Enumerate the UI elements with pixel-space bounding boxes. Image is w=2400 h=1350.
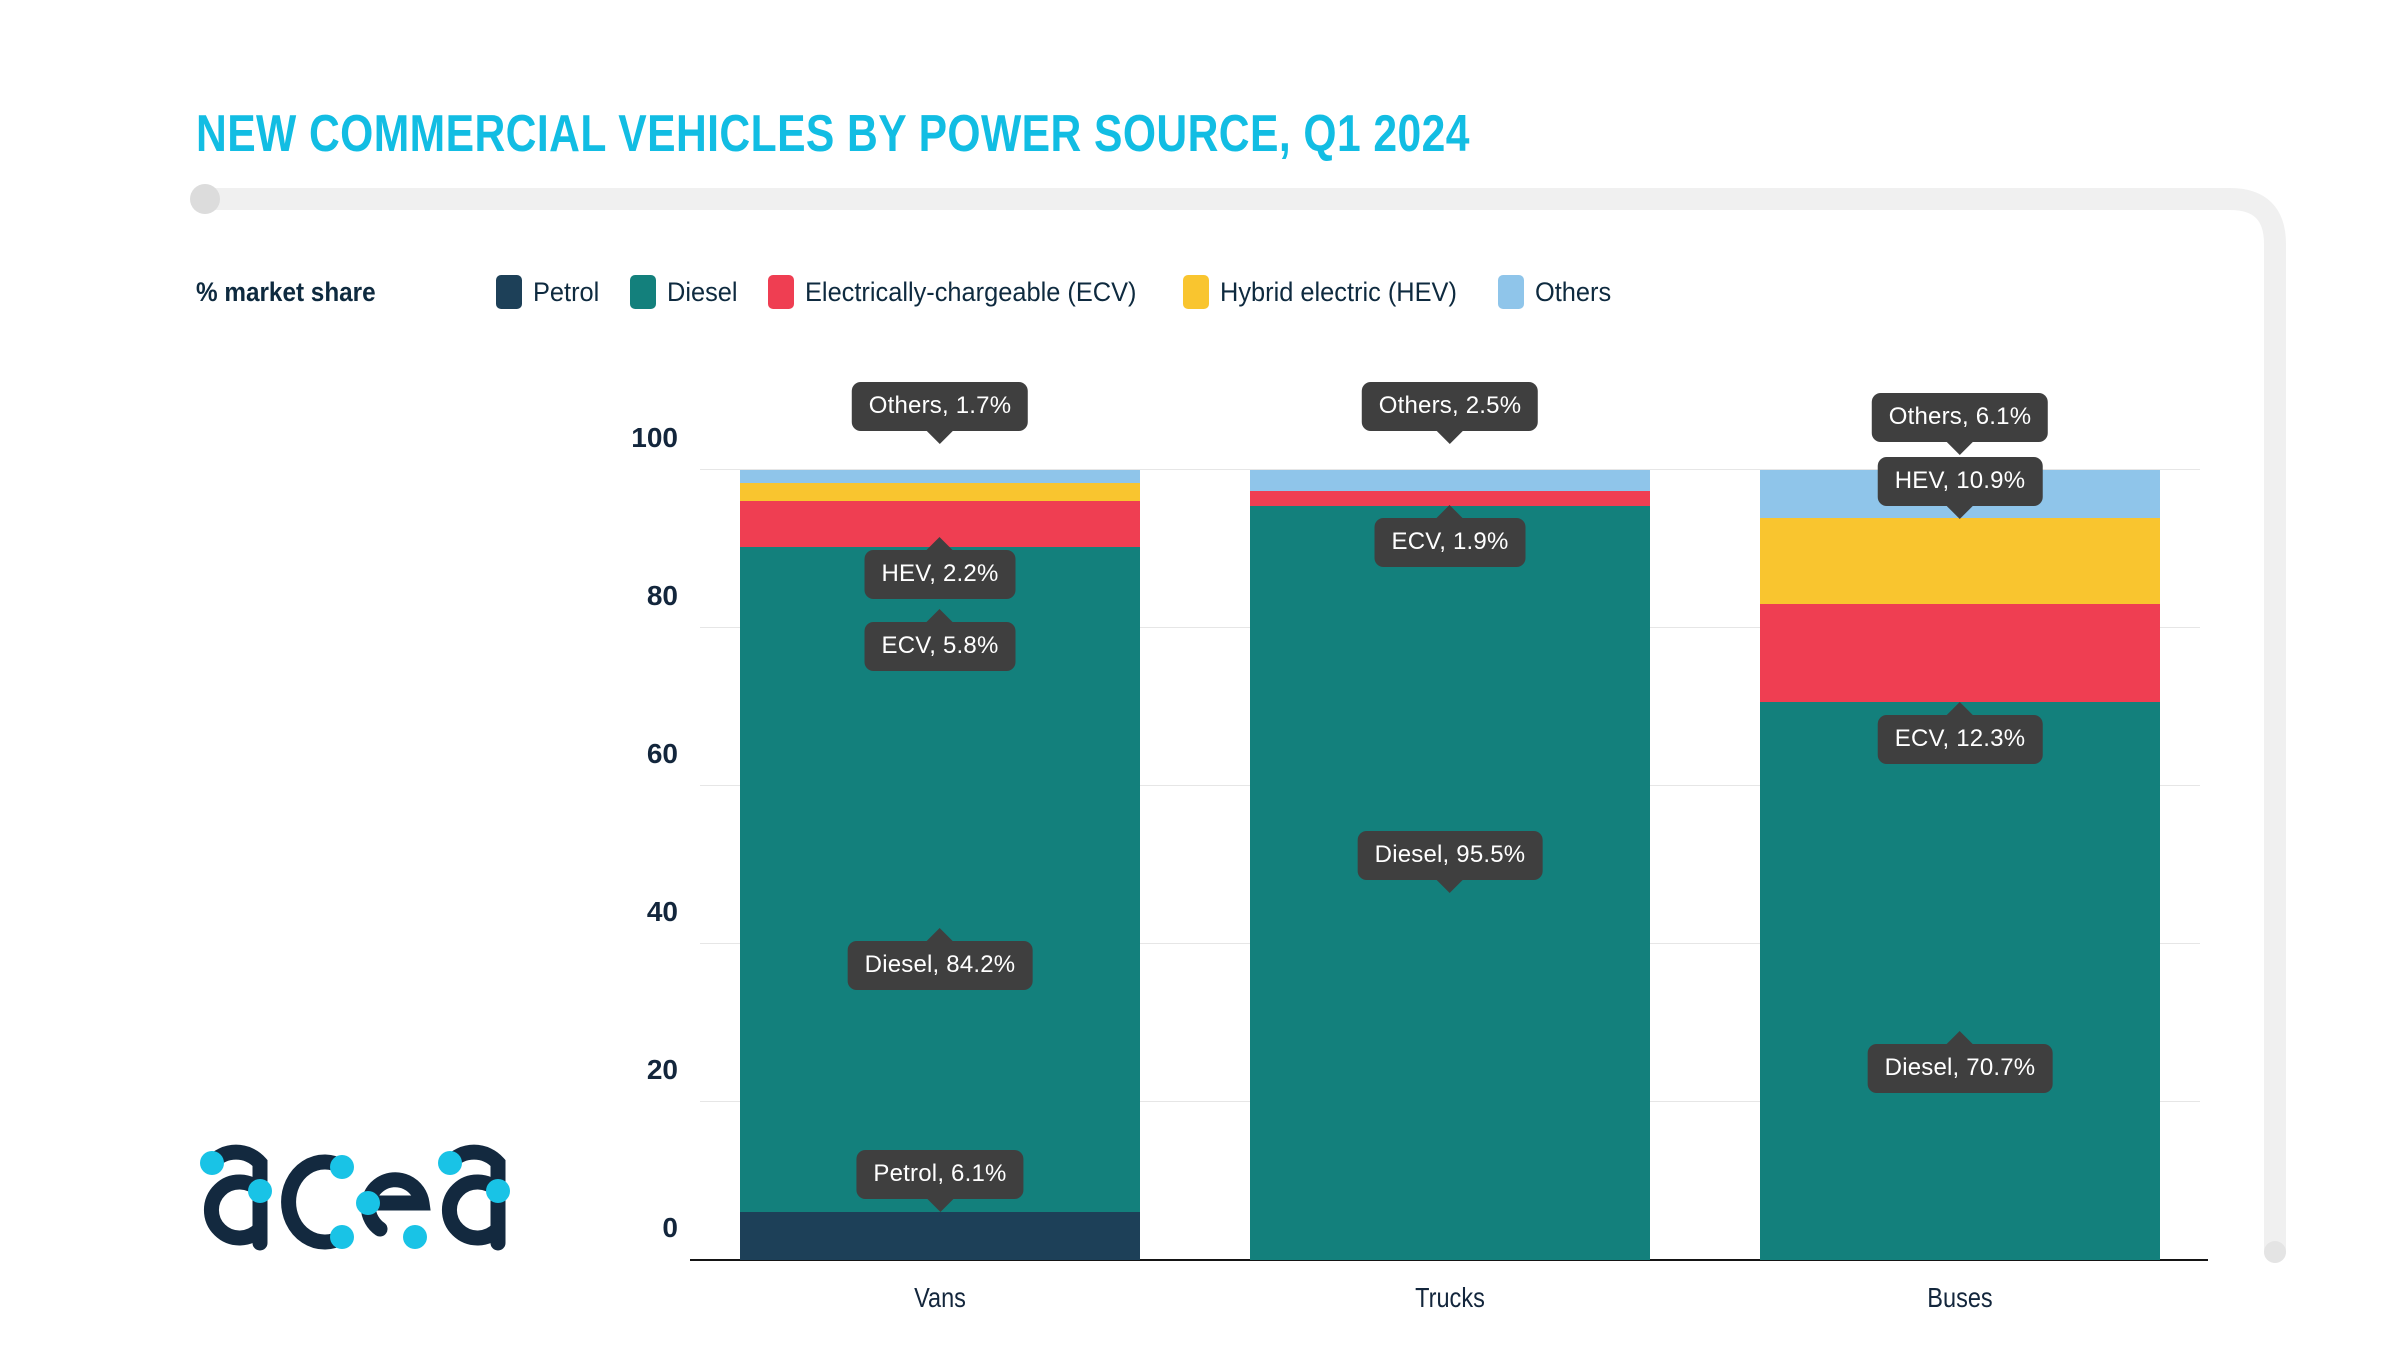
data-label-vans-others: Others, 1.7% (852, 382, 1028, 431)
legend-swatch-diesel (630, 275, 656, 309)
legend-swatch-others (1498, 275, 1524, 309)
logo-dot-5 (356, 1191, 380, 1215)
y-tick-20: 20 (558, 1054, 678, 1086)
legend-item-hev[interactable]: Hybrid electric (HEV) (1183, 275, 1472, 309)
x-tick-label-vans: Vans (772, 1282, 1108, 1314)
chart-plot-area: 100 80 60 40 20 0 Vans Trucks Buses (700, 470, 2200, 1260)
bar-segment-buses-ecv[interactable] (1760, 604, 2160, 701)
frame-end-dot (2264, 1241, 2286, 1263)
data-label-trucks-others: Others, 2.5% (1362, 382, 1538, 431)
logo-dot-2 (248, 1179, 272, 1203)
chart-legend: % market share Petrol Diesel Electricall… (196, 272, 1896, 312)
y-tick-40: 40 (558, 896, 678, 928)
logo-dot-7 (438, 1151, 462, 1175)
legend-item-others[interactable]: Others (1498, 275, 1616, 309)
bar-segment-buses-diesel[interactable] (1760, 702, 2160, 1261)
legend-swatch-petrol (496, 275, 522, 309)
data-label-buses-diesel: Diesel, 70.7% (1868, 1044, 2053, 1093)
frame-start-dot (190, 184, 220, 214)
bar-segment-buses-hev[interactable] (1760, 518, 2160, 604)
x-tick-label-trucks: Trucks (1282, 1282, 1618, 1314)
data-label-vans-petrol: Petrol, 6.1% (856, 1150, 1023, 1199)
data-label-buses-others: Others, 6.1% (1872, 393, 2048, 442)
legend-label-petrol: Petrol (533, 277, 599, 308)
logo-dot-4 (330, 1225, 354, 1249)
bar-segment-vans-others[interactable] (740, 470, 1140, 483)
legend-swatch-ecv (768, 275, 794, 309)
data-label-vans-ecv: ECV, 5.8% (865, 622, 1016, 671)
data-label-trucks-diesel: Diesel, 95.5% (1358, 831, 1543, 880)
data-label-buses-ecv: ECV, 12.3% (1878, 715, 2043, 764)
logo-dot-6 (403, 1225, 427, 1249)
legend-label-diesel: Diesel (667, 277, 738, 308)
y-tick-80: 80 (558, 580, 678, 612)
logo-dot-8 (486, 1179, 510, 1203)
logo-dot-3 (330, 1155, 354, 1179)
bar-segment-vans-petrol[interactable] (740, 1212, 1140, 1260)
data-label-vans-hev: HEV, 2.2% (865, 550, 1016, 599)
bar-segment-vans-hev[interactable] (740, 483, 1140, 500)
data-label-vans-diesel: Diesel, 84.2% (848, 941, 1033, 990)
data-label-trucks-ecv: ECV, 1.9% (1375, 518, 1526, 567)
bar-segment-trucks-ecv[interactable] (1250, 491, 1650, 506)
legend-label-hev: Hybrid electric (HEV) (1220, 277, 1457, 308)
page-title: NEW COMMERCIAL VEHICLES BY POWER SOURCE,… (196, 104, 1470, 164)
logo-dot-1 (200, 1151, 224, 1175)
y-tick-100: 100 (558, 422, 678, 454)
bar-group-buses: Buses (1760, 470, 2160, 1260)
stacked-bar-buses[interactable] (1760, 470, 2160, 1260)
bar-segment-trucks-others[interactable] (1250, 470, 1650, 491)
data-label-buses-hev: HEV, 10.9% (1878, 457, 2043, 506)
y-tick-60: 60 (558, 738, 678, 770)
legend-item-petrol[interactable]: Petrol (496, 275, 604, 309)
y-tick-0: 0 (558, 1212, 678, 1244)
legend-swatch-hev (1183, 275, 1209, 309)
legend-label-others: Others (1535, 277, 1611, 308)
axis-unit-label: % market share (196, 277, 466, 308)
acea-logo (190, 1125, 540, 1285)
legend-item-ecv[interactable]: Electrically-chargeable (ECV) (768, 275, 1158, 309)
legend-item-diesel[interactable]: Diesel (630, 275, 742, 309)
legend-label-ecv: Electrically-chargeable (ECV) (805, 277, 1136, 308)
x-tick-label-buses: Buses (1792, 1282, 2128, 1314)
